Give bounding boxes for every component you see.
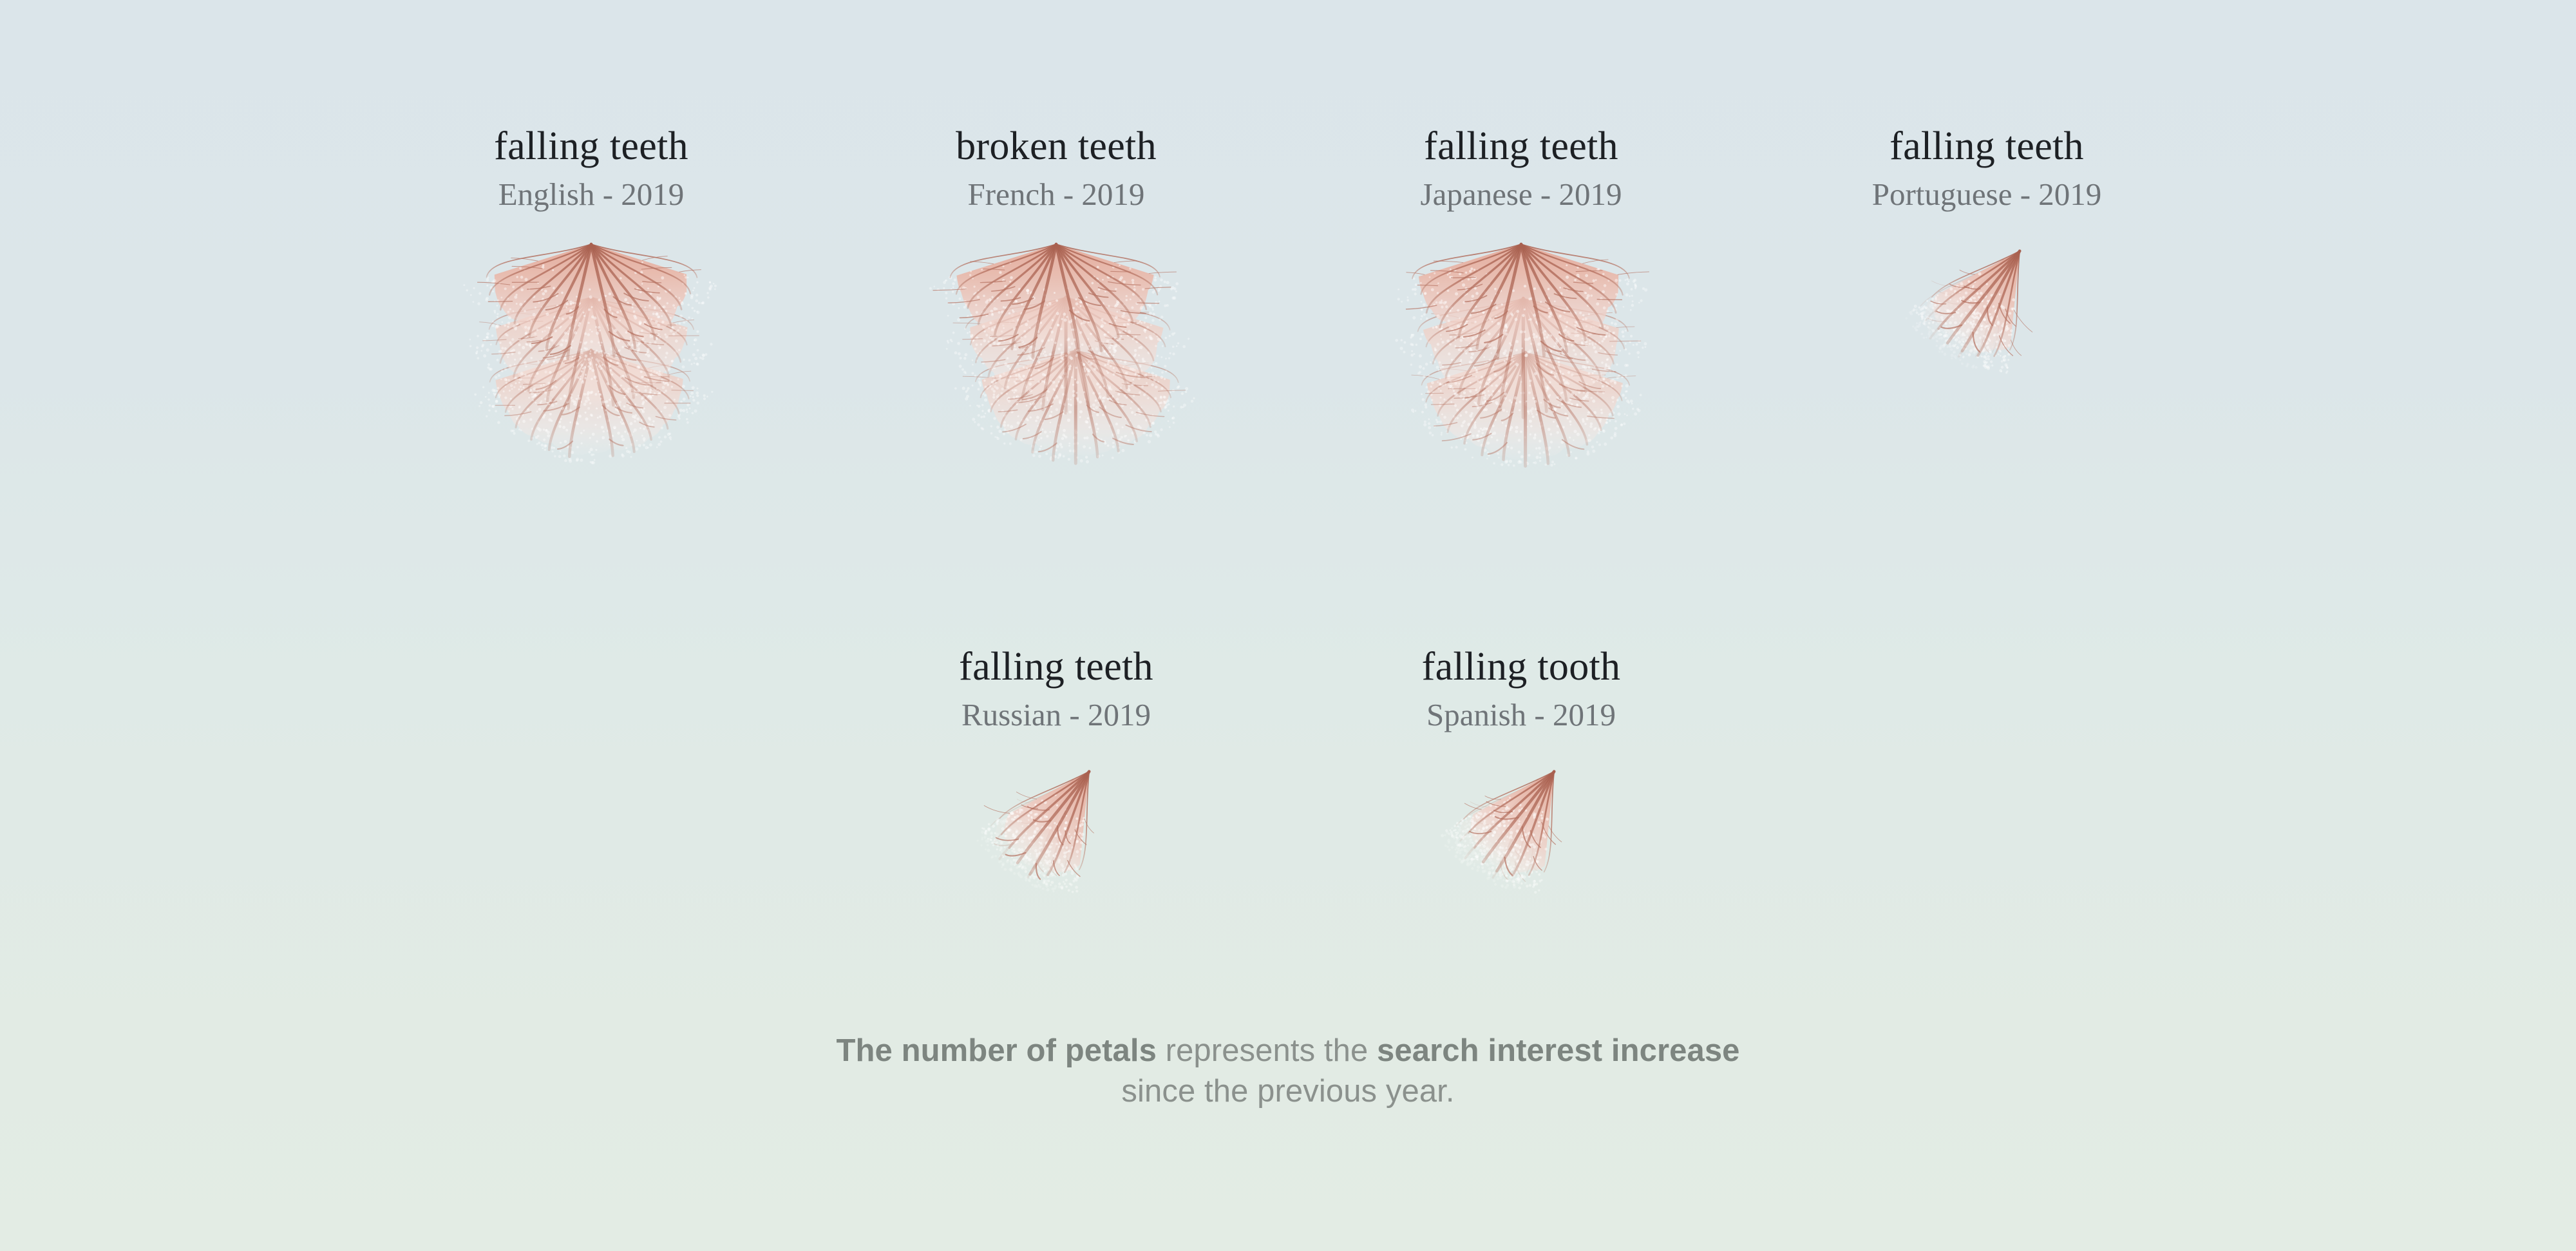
flower-language-year: French - 2019 xyxy=(799,175,1314,214)
flower-petal-glyph-french xyxy=(908,219,1204,515)
flower-search-term: falling teeth xyxy=(334,126,849,167)
flower-search-term: falling teeth xyxy=(1729,126,2244,167)
flower-card-japanese: falling teethJapanese - 2019 xyxy=(1264,126,1779,515)
flower-petal-glyph-spanish xyxy=(1434,745,1601,912)
flower-petal-glyph-russian xyxy=(969,745,1136,912)
caption-mid: represents the xyxy=(1157,1033,1377,1068)
flower-card-russian: falling teethRussian - 2019 xyxy=(799,647,1314,912)
petal-layer xyxy=(965,734,1137,905)
flower-search-term: falling teeth xyxy=(799,647,1314,687)
flower-search-term: falling tooth xyxy=(1264,647,1779,687)
flower-search-term: falling teeth xyxy=(1264,126,1779,167)
flower-label-group: falling teethEnglish - 2019 xyxy=(334,126,849,214)
flower-language-year: Spanish - 2019 xyxy=(1264,695,1779,734)
caption-bold-search: search interest increase xyxy=(1377,1033,1740,1068)
flower-language-year: English - 2019 xyxy=(334,175,849,214)
flower-label-group: falling teethPortuguese - 2019 xyxy=(1729,126,2244,214)
flower-search-term: broken teeth xyxy=(799,126,1314,167)
chart-caption: The number of petals represents the sear… xyxy=(0,1031,2576,1111)
petal-layer xyxy=(1439,740,1600,903)
flower-petal-glyph-portuguese xyxy=(1899,224,2067,392)
flower-card-spanish: falling toothSpanish - 2019 xyxy=(1264,647,1779,912)
flower-label-group: falling teethRussian - 2019 xyxy=(799,647,1314,734)
flower-language-year: Russian - 2019 xyxy=(799,695,1314,734)
flower-card-french: broken teethFrench - 2019 xyxy=(799,126,1314,515)
visualization-canvas: falling teethEnglish - 2019broken teethF… xyxy=(0,0,2576,1251)
caption-line-1: The number of petals represents the sear… xyxy=(836,1033,1739,1068)
flower-label-group: falling teethJapanese - 2019 xyxy=(1264,126,1779,214)
flower-card-english: falling teethEnglish - 2019 xyxy=(334,126,849,515)
flower-language-year: Portuguese - 2019 xyxy=(1729,175,2244,214)
flower-label-group: falling toothSpanish - 2019 xyxy=(1264,647,1779,734)
flower-label-group: broken teethFrench - 2019 xyxy=(799,126,1314,214)
caption-bold-petals: The number of petals xyxy=(836,1033,1157,1068)
caption-line-2: since the previous year. xyxy=(0,1071,2576,1112)
flower-language-year: Japanese - 2019 xyxy=(1264,175,1779,214)
flower-petal-glyph-japanese xyxy=(1370,219,1672,515)
flower-petal-glyph-english xyxy=(443,219,739,515)
flower-card-portuguese: falling teethPortuguese - 2019 xyxy=(1729,126,2244,392)
